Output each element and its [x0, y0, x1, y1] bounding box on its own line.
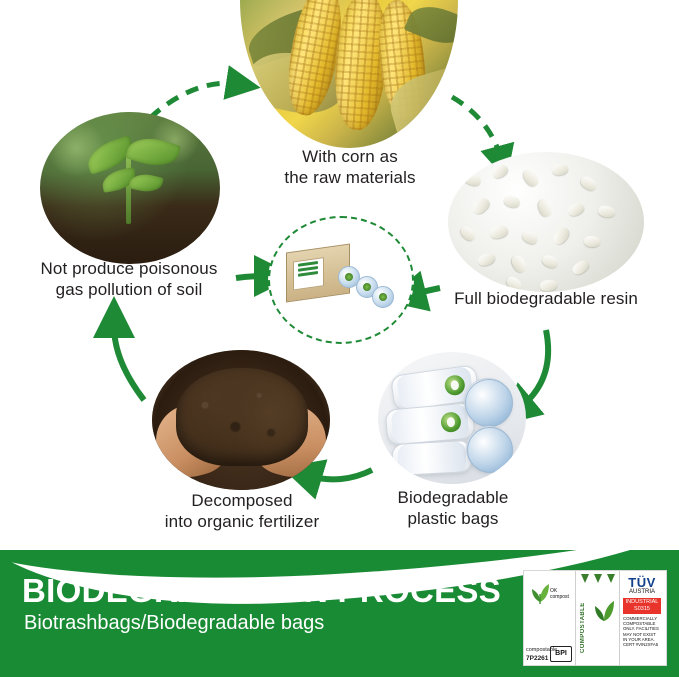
label-bags: Biodegradable plastic bags	[362, 487, 544, 529]
banner-title: BIODEGRADATION PROCESS	[22, 572, 501, 610]
compostable-vertical-text: COMPOSTABLE	[580, 591, 590, 653]
tuv-badge-text: INDUSTRIAL	[623, 599, 661, 606]
photo-corn	[240, 0, 458, 148]
cert-seedling: COMPOSTABLE	[576, 571, 620, 665]
label-compost: Decomposed into organic fertilizer	[122, 490, 362, 532]
label-corn-line1: With corn as	[250, 146, 450, 167]
certification-marks: OK compost compostable 7P2261 BPI COMPOS…	[523, 570, 667, 666]
banner-subtitle: Biotrashbags/Biodegradable bags	[24, 612, 324, 635]
photo-bags	[378, 352, 526, 484]
bpi-logo: BPI	[550, 646, 572, 662]
tuv-sub: AUSTRIA	[623, 589, 661, 596]
biodegradation-infographic: With corn as the raw materials	[0, 0, 679, 677]
cycle-diagram: With corn as the raw materials	[0, 0, 679, 560]
photo-compost	[152, 350, 330, 490]
label-compost-line2: into organic fertilizer	[122, 511, 362, 532]
bottom-banner: BIODEGRADATION PROCESS Biotrashbags/Biod…	[0, 550, 679, 677]
label-bags-line2: plastic bags	[362, 508, 544, 529]
seedling-icon	[592, 593, 616, 623]
label-soil-line2: gas pollution of soil	[4, 279, 254, 300]
tuv-logo: TÜV	[623, 576, 661, 589]
label-corn-line2: the raw materials	[250, 167, 450, 188]
three-arrows-icon	[578, 574, 617, 590]
arrow-corn-to-resin	[452, 97, 500, 156]
tuv-badge-code: S0315	[623, 606, 661, 613]
arrow-compost-to-soil	[114, 326, 144, 400]
product-rolls-icon	[338, 266, 400, 310]
label-compost-line1: Decomposed	[122, 490, 362, 511]
label-corn: With corn as the raw materials	[250, 146, 450, 188]
label-resin-line1: Full biodegradable resin	[432, 288, 660, 309]
photo-resin	[448, 152, 644, 292]
cert-tuv-austria: TÜV AUSTRIA INDUSTRIAL S0315 COMMERCIALL…	[620, 571, 664, 665]
cert-ok-compost: OK compost compostable 7P2261 BPI	[524, 571, 576, 665]
compostable-code: 7P2261	[526, 655, 548, 662]
center-product-circle	[268, 216, 414, 344]
label-soil: Not produce poisonous gas pollution of s…	[4, 258, 254, 300]
photo-seedling	[40, 112, 220, 264]
ok-compost-leaf-icon	[529, 578, 551, 604]
label-bags-line1: Biodegradable	[362, 487, 544, 508]
label-resin: Full biodegradable resin	[432, 288, 660, 309]
tuv-industrial-badge: INDUSTRIAL S0315	[623, 598, 661, 614]
ok-compost-text: OK compost	[550, 588, 573, 600]
tuv-fine-print: COMMERCIALLY COMPOSTABLE ONLY. FACILITIE…	[623, 616, 661, 647]
label-soil-line1: Not produce poisonous	[4, 258, 254, 279]
